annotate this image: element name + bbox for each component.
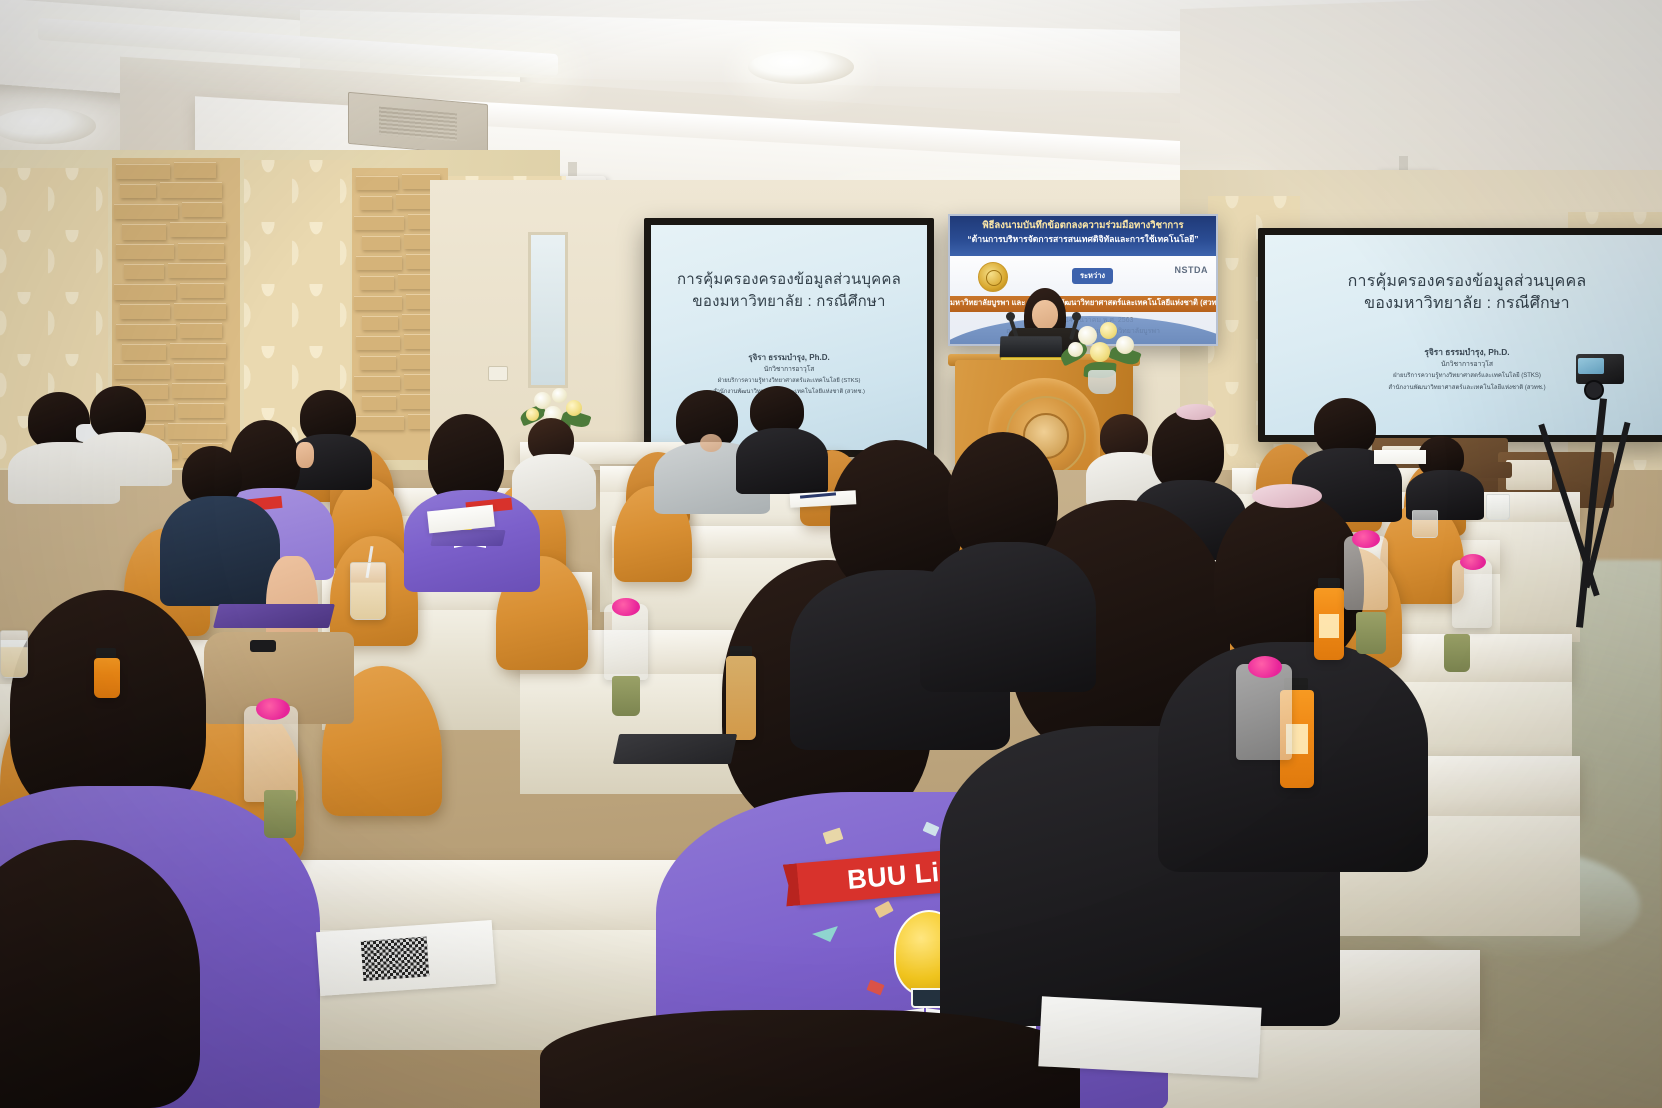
confetti bbox=[812, 926, 838, 942]
speaker-face bbox=[1032, 300, 1058, 330]
water-glass[interactable] bbox=[1412, 510, 1438, 538]
pink-bow bbox=[612, 598, 640, 616]
purple-folder[interactable] bbox=[430, 530, 505, 546]
small-potted-plant bbox=[1356, 612, 1386, 654]
ceiling-downlight bbox=[748, 50, 854, 84]
banner-parties: มหาวิทยาลัยบูรพา และ สำนักงานพัฒนาวิทยาศ… bbox=[950, 297, 1216, 309]
pink-bow bbox=[1352, 530, 1380, 548]
water-bottle[interactable] bbox=[726, 656, 756, 740]
banner-subhead: “ด้านการบริหารจัดการสารสนเทศดิจิทัลและกา… bbox=[950, 232, 1216, 246]
small-potted-plant bbox=[612, 676, 640, 716]
slide-title-line2: ของมหาวิทยาลัย : กรณีศึกษา bbox=[651, 291, 927, 312]
camera-lens bbox=[1584, 380, 1604, 400]
slide-title-line1: การคุ้มครองครองข้อมูลส่วนบุคคล bbox=[1265, 271, 1662, 294]
slide-org-line1: ฝ่ายบริการความรู้ทางวิทยาศาสตร์และเทคโนโ… bbox=[651, 375, 927, 385]
university-seal-icon bbox=[978, 262, 1008, 292]
handout-paper[interactable] bbox=[1038, 996, 1261, 1077]
bottle-label bbox=[1319, 614, 1339, 638]
water-glass[interactable] bbox=[1486, 494, 1510, 520]
qr-code bbox=[361, 937, 430, 982]
wall-light-switch[interactable] bbox=[488, 366, 508, 381]
pink-bow bbox=[1248, 656, 1282, 678]
flower-bouquet bbox=[1056, 310, 1148, 392]
gift-bag-pink-ribbon[interactable] bbox=[244, 706, 298, 802]
banner-headline: พิธีลงนามบันทึกข้อตกลงความร่วมมือทางวิชา… bbox=[950, 218, 1216, 233]
bench-cushion bbox=[1506, 460, 1552, 490]
notebook[interactable] bbox=[613, 734, 737, 764]
small-potted-plant bbox=[264, 790, 296, 838]
confetti bbox=[874, 901, 893, 918]
confetti bbox=[823, 828, 844, 845]
slide-title-line1: การคุ้มครองครองข้อมูลส่วนบุคคล bbox=[651, 269, 927, 290]
podium-laptop bbox=[1000, 336, 1063, 358]
orange-juice-bottle[interactable] bbox=[1314, 588, 1344, 660]
qr-code-handout[interactable] bbox=[316, 920, 496, 996]
bottle-cap bbox=[96, 648, 116, 658]
wall-window bbox=[528, 232, 568, 388]
camera-lcd-screen bbox=[1578, 358, 1604, 374]
bottle-cap bbox=[1318, 578, 1340, 588]
pink-bow bbox=[256, 698, 290, 720]
nstda-logo: NSTDA bbox=[1175, 266, 1209, 275]
slide-presenter-role: นักวิชาการอาวุโส bbox=[651, 363, 927, 374]
banner-between-label: ระหว่าง bbox=[1072, 268, 1113, 284]
microphone-head bbox=[1006, 312, 1015, 321]
hair-bow bbox=[1176, 404, 1216, 420]
confetti bbox=[866, 980, 884, 996]
gift-bag-pink-ribbon[interactable] bbox=[1344, 536, 1388, 610]
gift-bag-pink-ribbon[interactable] bbox=[1452, 560, 1492, 628]
seminar-room-photo: การคุ้มครองครองข้อมูลส่วนบุคคล ของมหาวิท… bbox=[0, 0, 1662, 1108]
wristwatch bbox=[250, 640, 276, 652]
gift-bag-pink-ribbon[interactable] bbox=[604, 604, 648, 680]
hair-bow bbox=[1252, 484, 1322, 508]
handout-paper[interactable] bbox=[1374, 450, 1426, 464]
iced-milk-tea-cup bbox=[350, 562, 386, 620]
small-potted-plant bbox=[1444, 634, 1470, 672]
slide-title-line2: ของมหาวิทยาลัย : กรณีศึกษา bbox=[1265, 293, 1662, 316]
pink-bow bbox=[1460, 554, 1486, 570]
iced-milk-tea-cup bbox=[0, 630, 28, 678]
purple-folder[interactable] bbox=[213, 604, 335, 628]
orange-juice-bottle[interactable] bbox=[94, 658, 120, 698]
gift-bag-pink-ribbon[interactable] bbox=[1236, 664, 1292, 760]
confetti bbox=[923, 822, 940, 837]
